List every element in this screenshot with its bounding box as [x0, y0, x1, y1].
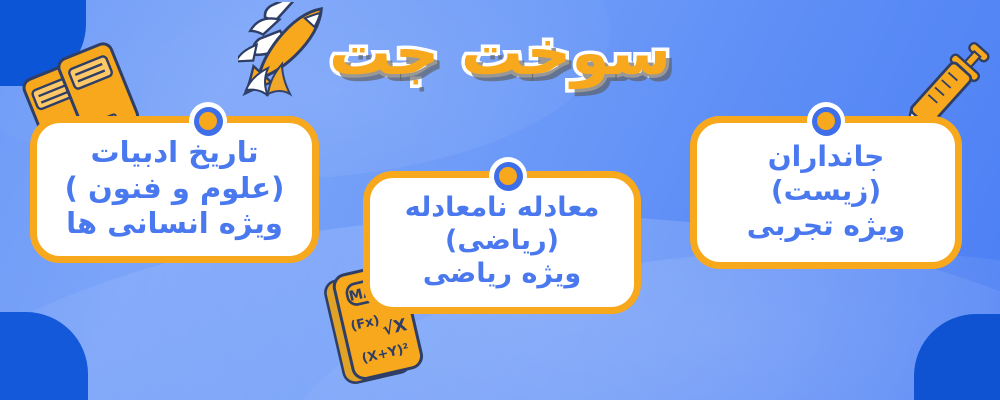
subject-card-literature[interactable]: تاریخ ادبیات (علوم و فنون ) ویژه انسانی … — [30, 116, 319, 263]
card-audience: ویژه تجربی — [747, 209, 906, 243]
banner-title-text: سوخت جت — [329, 22, 671, 84]
card-audience: ویژه انسانی ها — [66, 206, 283, 241]
card-title: جانداران — [768, 140, 885, 174]
promo-banner: سوخت جت — [0, 0, 1000, 400]
svg-text:(X+Y)²: (X+Y)² — [360, 341, 410, 366]
corner-accent-bottom-left — [0, 354, 46, 400]
subject-card-biology[interactable]: جانداران (زیست) ویژه تجربی — [690, 116, 962, 269]
rocket-icon — [238, 2, 360, 110]
corner-accent-bottom-right — [958, 358, 1000, 400]
subject-card-math[interactable]: معادله نامعادله (ریاضی) ویژه ریاضی — [363, 171, 641, 314]
corner-accent-top-left — [0, 0, 44, 44]
banner-title: سوخت جت — [0, 14, 1000, 92]
circle-badge-icon — [489, 157, 527, 195]
svg-text:√X: √X — [381, 315, 409, 340]
card-subject: (زیست) — [771, 174, 881, 208]
svg-text:(Fx): (Fx) — [349, 313, 381, 334]
card-title: معادله نامعادله — [405, 192, 600, 225]
circle-badge-icon — [189, 102, 227, 140]
card-subject: (علوم و فنون ) — [65, 171, 285, 206]
card-title: تاریخ ادبیات — [91, 135, 259, 170]
card-subject: (ریاضی) — [445, 225, 559, 258]
circle-badge-icon — [807, 102, 845, 140]
card-audience: ویژه ریاضی — [423, 258, 581, 291]
